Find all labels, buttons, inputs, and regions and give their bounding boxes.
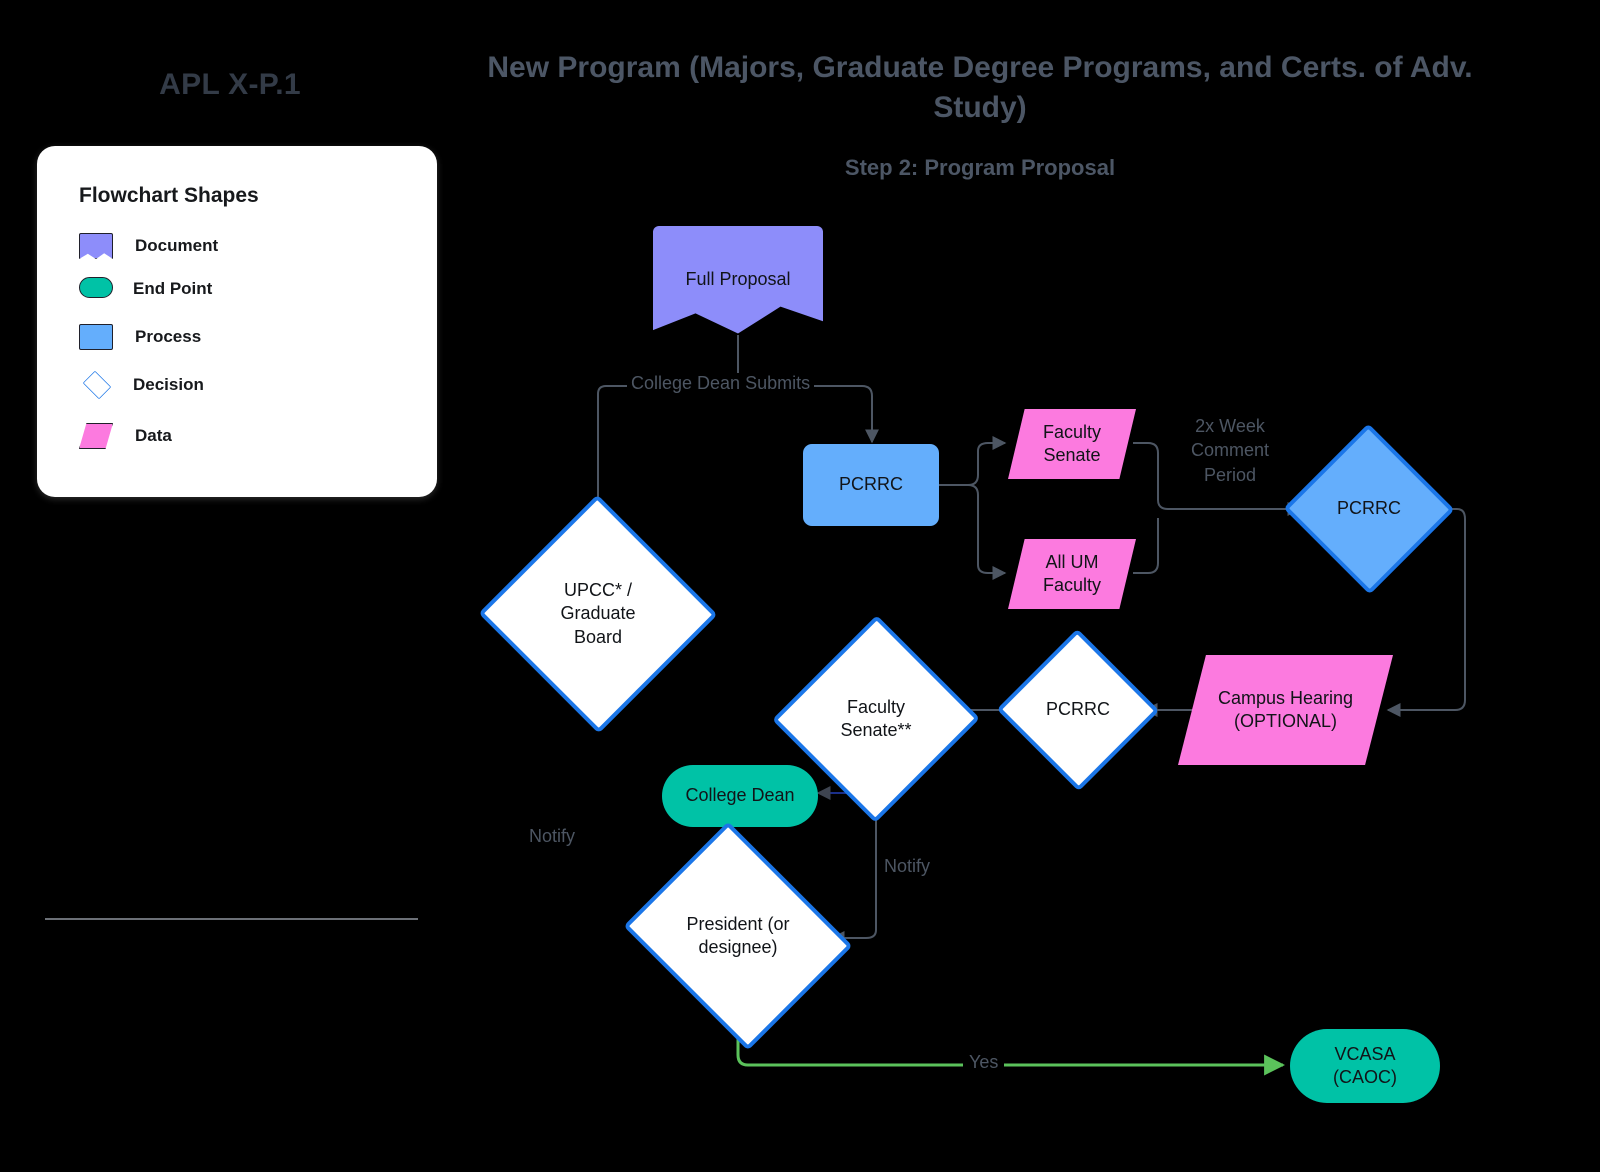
node-president-decision[interactable]: President (or designee) xyxy=(650,862,826,1010)
node-label-line1: Campus Hearing xyxy=(1218,688,1353,708)
edge-label-line2: Comment xyxy=(1191,440,1269,460)
node-campus-hearing-data[interactable]: Campus Hearing (OPTIONAL) xyxy=(1178,655,1393,765)
node-label-line2: Senate xyxy=(1043,445,1100,465)
edge-president-to-vcasa xyxy=(738,1005,1283,1065)
node-label-line3: Board xyxy=(574,627,622,647)
diagram-canvas: APL X-P.1 Flowchart Shapes Document End … xyxy=(0,0,1600,1172)
node-faculty-senate-decision[interactable]: Faculty Senate** xyxy=(803,645,949,793)
node-label-line2: (CAOC) xyxy=(1333,1067,1397,1087)
edge-pcrrc1-to-faculty-senate xyxy=(939,443,1005,485)
node-vcasa-endpoint[interactable]: VCASA (CAOC) xyxy=(1290,1029,1440,1103)
node-label: College Dean xyxy=(679,784,800,807)
node-label: PCRRC xyxy=(1020,653,1136,767)
node-label-line2: (OPTIONAL) xyxy=(1234,711,1337,731)
node-label-line2: Senate** xyxy=(840,720,911,740)
edge-proposal-to-upcc xyxy=(598,386,738,525)
node-label-line1: VCASA xyxy=(1334,1044,1395,1064)
node-label: Full Proposal xyxy=(679,268,796,291)
node-label-line1: President (or xyxy=(686,914,789,934)
node-all-um-faculty-data[interactable]: All UM Faculty xyxy=(1008,539,1136,609)
node-label: PCRRC xyxy=(1308,449,1430,569)
node-pcrrc-process[interactable]: PCRRC xyxy=(803,444,939,526)
node-label-line2: Faculty xyxy=(1043,575,1101,595)
node-faculty-senate-data[interactable]: Faculty Senate xyxy=(1008,409,1136,479)
edge-label-line3: Period xyxy=(1204,465,1256,485)
node-upcc-graduate-board[interactable]: UPCC* / Graduate Board xyxy=(513,530,683,698)
node-label-line1: UPCC* / xyxy=(564,580,632,600)
node-label-line2: designee) xyxy=(698,937,777,957)
node-label-line1: Faculty xyxy=(847,697,905,717)
edge-label-comment-period: 2x Week Comment Period xyxy=(1165,414,1295,487)
edge-pcrrc1-to-all-um xyxy=(939,485,1005,573)
node-label-line2: Graduate xyxy=(560,603,635,623)
edge-label-yes: Yes xyxy=(963,1052,1004,1073)
node-pcrrc-decision-white[interactable]: PCRRC xyxy=(1020,653,1136,767)
node-label-line1: Faculty xyxy=(1043,422,1101,442)
node-pcrrc-decision-blue[interactable]: PCRRC xyxy=(1308,449,1430,569)
edge-label-line1: 2x Week xyxy=(1195,416,1265,436)
node-label: PCRRC xyxy=(833,473,909,496)
edge-proposal-to-pcrrc1 xyxy=(738,386,872,442)
edge-label-college-dean-submits: College Dean Submits xyxy=(627,373,814,394)
edge-all-um-to-merge xyxy=(1133,518,1158,573)
node-label-line1: All UM xyxy=(1046,552,1099,572)
edge-label-notify-left: Notify xyxy=(529,826,575,847)
edge-label-notify-right: Notify xyxy=(884,856,930,877)
node-college-dean-endpoint[interactable]: College Dean xyxy=(662,765,818,827)
